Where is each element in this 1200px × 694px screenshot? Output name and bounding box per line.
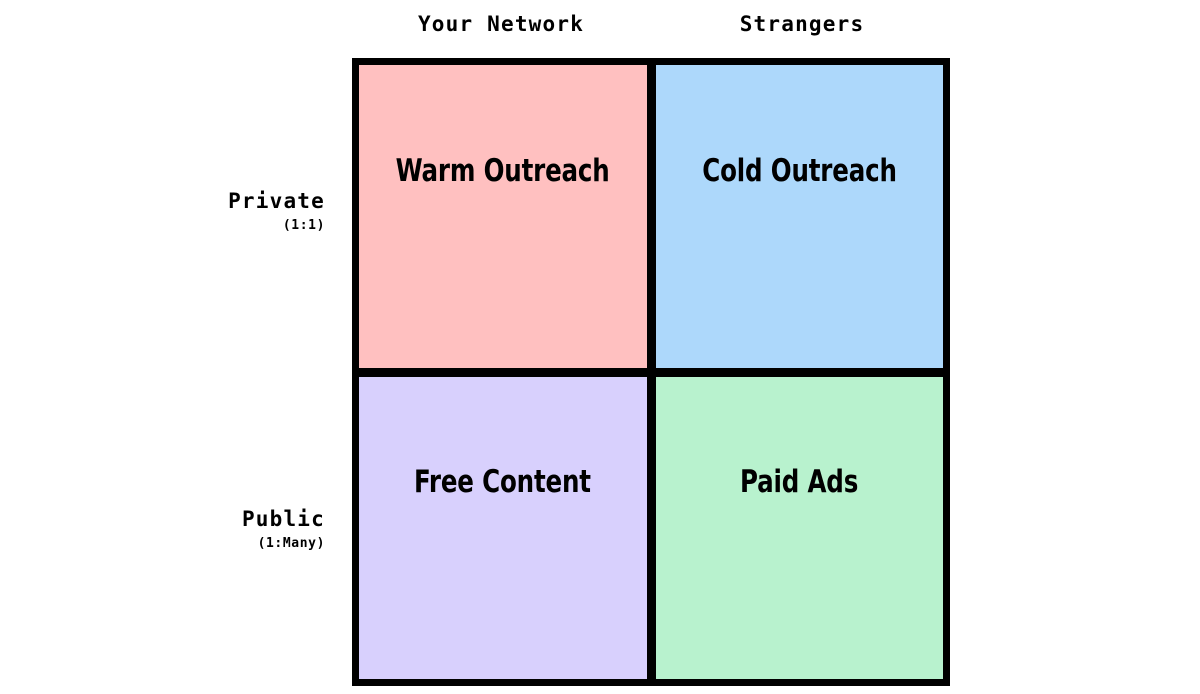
quadrant-warm-outreach-label: Warm Outreach [396, 153, 610, 189]
row-label-private: Private (1:1) [105, 188, 325, 236]
quadrant-free-content-label: Free Content [414, 464, 591, 500]
column-header-strangers: Strangers [654, 8, 950, 40]
quadrant-paid-ads[interactable]: Paid Ads [656, 377, 944, 680]
row-label-public: Public (1:Many) [105, 506, 325, 554]
quadrant-paid-ads-label: Paid Ads [740, 464, 858, 500]
quadrant-grid: Warm Outreach Cold Outreach Free Content… [352, 58, 950, 686]
column-header-your-network: Your Network [352, 8, 650, 40]
quadrant-free-content[interactable]: Free Content [359, 377, 647, 680]
row-label-private-main: Private [105, 188, 325, 214]
matrix-diagram: Your Network Strangers Private (1:1) Pub… [0, 0, 1200, 694]
row-label-public-sub: (1:Many) [105, 534, 325, 554]
row-label-private-sub: (1:1) [105, 216, 325, 236]
row-label-public-main: Public [105, 506, 325, 532]
quadrant-cold-outreach-label: Cold Outreach [702, 153, 897, 189]
quadrant-cold-outreach[interactable]: Cold Outreach [656, 65, 944, 368]
quadrant-warm-outreach[interactable]: Warm Outreach [359, 65, 647, 368]
